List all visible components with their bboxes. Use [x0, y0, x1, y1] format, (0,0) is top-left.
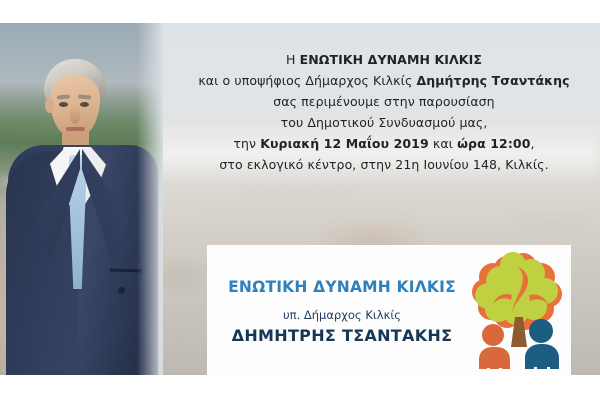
- candidate-eye-right: [80, 102, 89, 107]
- tree-and-two-people-icon: [471, 251, 567, 369]
- invitation-line-6: στο εκλογικό κέντρο, στην 21η Ιουνίου 14…: [175, 154, 593, 175]
- invitation-line-4: του Δημοτικού Συνδυασμού μας,: [175, 112, 593, 133]
- candidate-nose: [70, 107, 80, 124]
- invitation-line-2: και ο υποψήφιος Δήμαρχος Κιλκίς Δημήτρης…: [175, 70, 593, 91]
- invitation-text-block: Η ΕΝΩΤΙΚΗ ΔΥΝΑΜΗ ΚΙΛΚΙΣ και ο υποψήφιος …: [175, 49, 593, 175]
- candidate-eyebrow-right: [78, 95, 91, 100]
- candidate-portrait: [0, 23, 163, 375]
- invitation-line-3: σας περιμένουμε στην παρουσίαση: [175, 91, 593, 112]
- party-logo-text: ΕΝΩΤΙΚΗ ΔΥΝΑΜΗ ΚΙΛΚΙΣ υπ. Δήμαρχος Κιλκί…: [207, 275, 471, 346]
- candidate-name: ΔΗΜΗΤΡΗΣ ΤΣΑΝΤΑΚΗΣ: [213, 325, 471, 346]
- party-logo-card: ΕΝΩΤΙΚΗ ΔΥΝΑΜΗ ΚΙΛΚΙΣ υπ. Δήμαρχος Κιλκί…: [207, 245, 571, 375]
- party-name: ΕΝΩΤΙΚΗ ΔΥΝΑΜΗ ΚΙΛΚΙΣ: [213, 277, 471, 297]
- candidate-eye-left: [59, 102, 68, 107]
- poster-banner: Η ΕΝΩΤΙΚΗ ΔΥΝΑΜΗ ΚΙΛΚΙΣ και ο υποψήφιος …: [0, 23, 600, 375]
- election-invitation-poster: Η ΕΝΩΤΙΚΗ ΔΥΝΑΜΗ ΚΙΛΚΙΣ και ο υποψήφιος …: [0, 0, 600, 400]
- candidate-ear: [45, 97, 54, 113]
- candidate-jacket-button: [118, 287, 125, 294]
- invitation-line-5: την Κυριακή 12 Μαΐου 2019 και ώρα 12:00,: [175, 133, 593, 154]
- candidate-role: υπ. Δήμαρχος Κιλκίς: [213, 306, 471, 324]
- invitation-line-1: Η ΕΝΩΤΙΚΗ ΔΥΝΑΜΗ ΚΙΛΚΙΣ: [175, 49, 593, 70]
- candidate-figure: [0, 23, 163, 375]
